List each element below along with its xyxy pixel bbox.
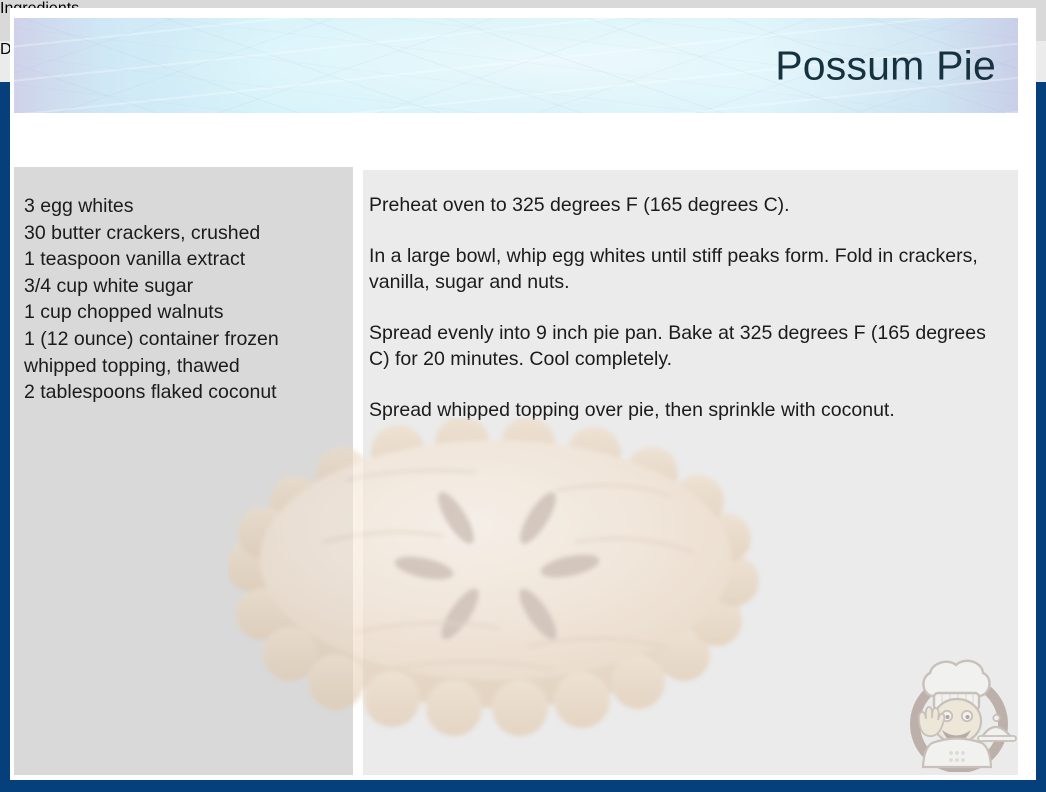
- direction-step: Spread evenly into 9 inch pie pan. Bake …: [369, 320, 1000, 373]
- ingredient-item: 30 butter crackers, crushed: [24, 220, 345, 247]
- page-title: Possum Pie: [775, 42, 996, 89]
- ingredient-item: 1 (12 ounce) container frozen whipped to…: [24, 326, 345, 379]
- ingredient-item: 3 egg whites: [24, 193, 345, 220]
- ingredient-item: 1 teaspoon vanilla extract: [24, 246, 345, 273]
- directions-list: Preheat oven to 325 degrees F (165 degre…: [369, 192, 1000, 423]
- direction-step: In a large bowl, whip egg whites until s…: [369, 243, 1000, 296]
- ingredient-item: 1 cup chopped walnuts: [24, 299, 345, 326]
- ingredients-list: 3 egg whites30 butter crackers, crushed1…: [24, 193, 345, 406]
- direction-step: Preheat oven to 325 degrees F (165 degre…: [369, 192, 1000, 219]
- header-banner: Possum Pie: [14, 18, 1018, 113]
- directions-panel: Preheat oven to 325 degrees F (165 degre…: [363, 170, 1018, 775]
- ingredient-item: 2 tablespoons flaked coconut: [24, 379, 345, 406]
- recipe-card: Possum Pie Ingredients 3 egg whites30 bu…: [0, 0, 1046, 792]
- ingredient-item: 3/4 cup white sugar: [24, 273, 345, 300]
- direction-step: Spread whipped topping over pie, then sp…: [369, 397, 1000, 424]
- ingredients-panel: 3 egg whites30 butter crackers, crushed1…: [14, 167, 353, 775]
